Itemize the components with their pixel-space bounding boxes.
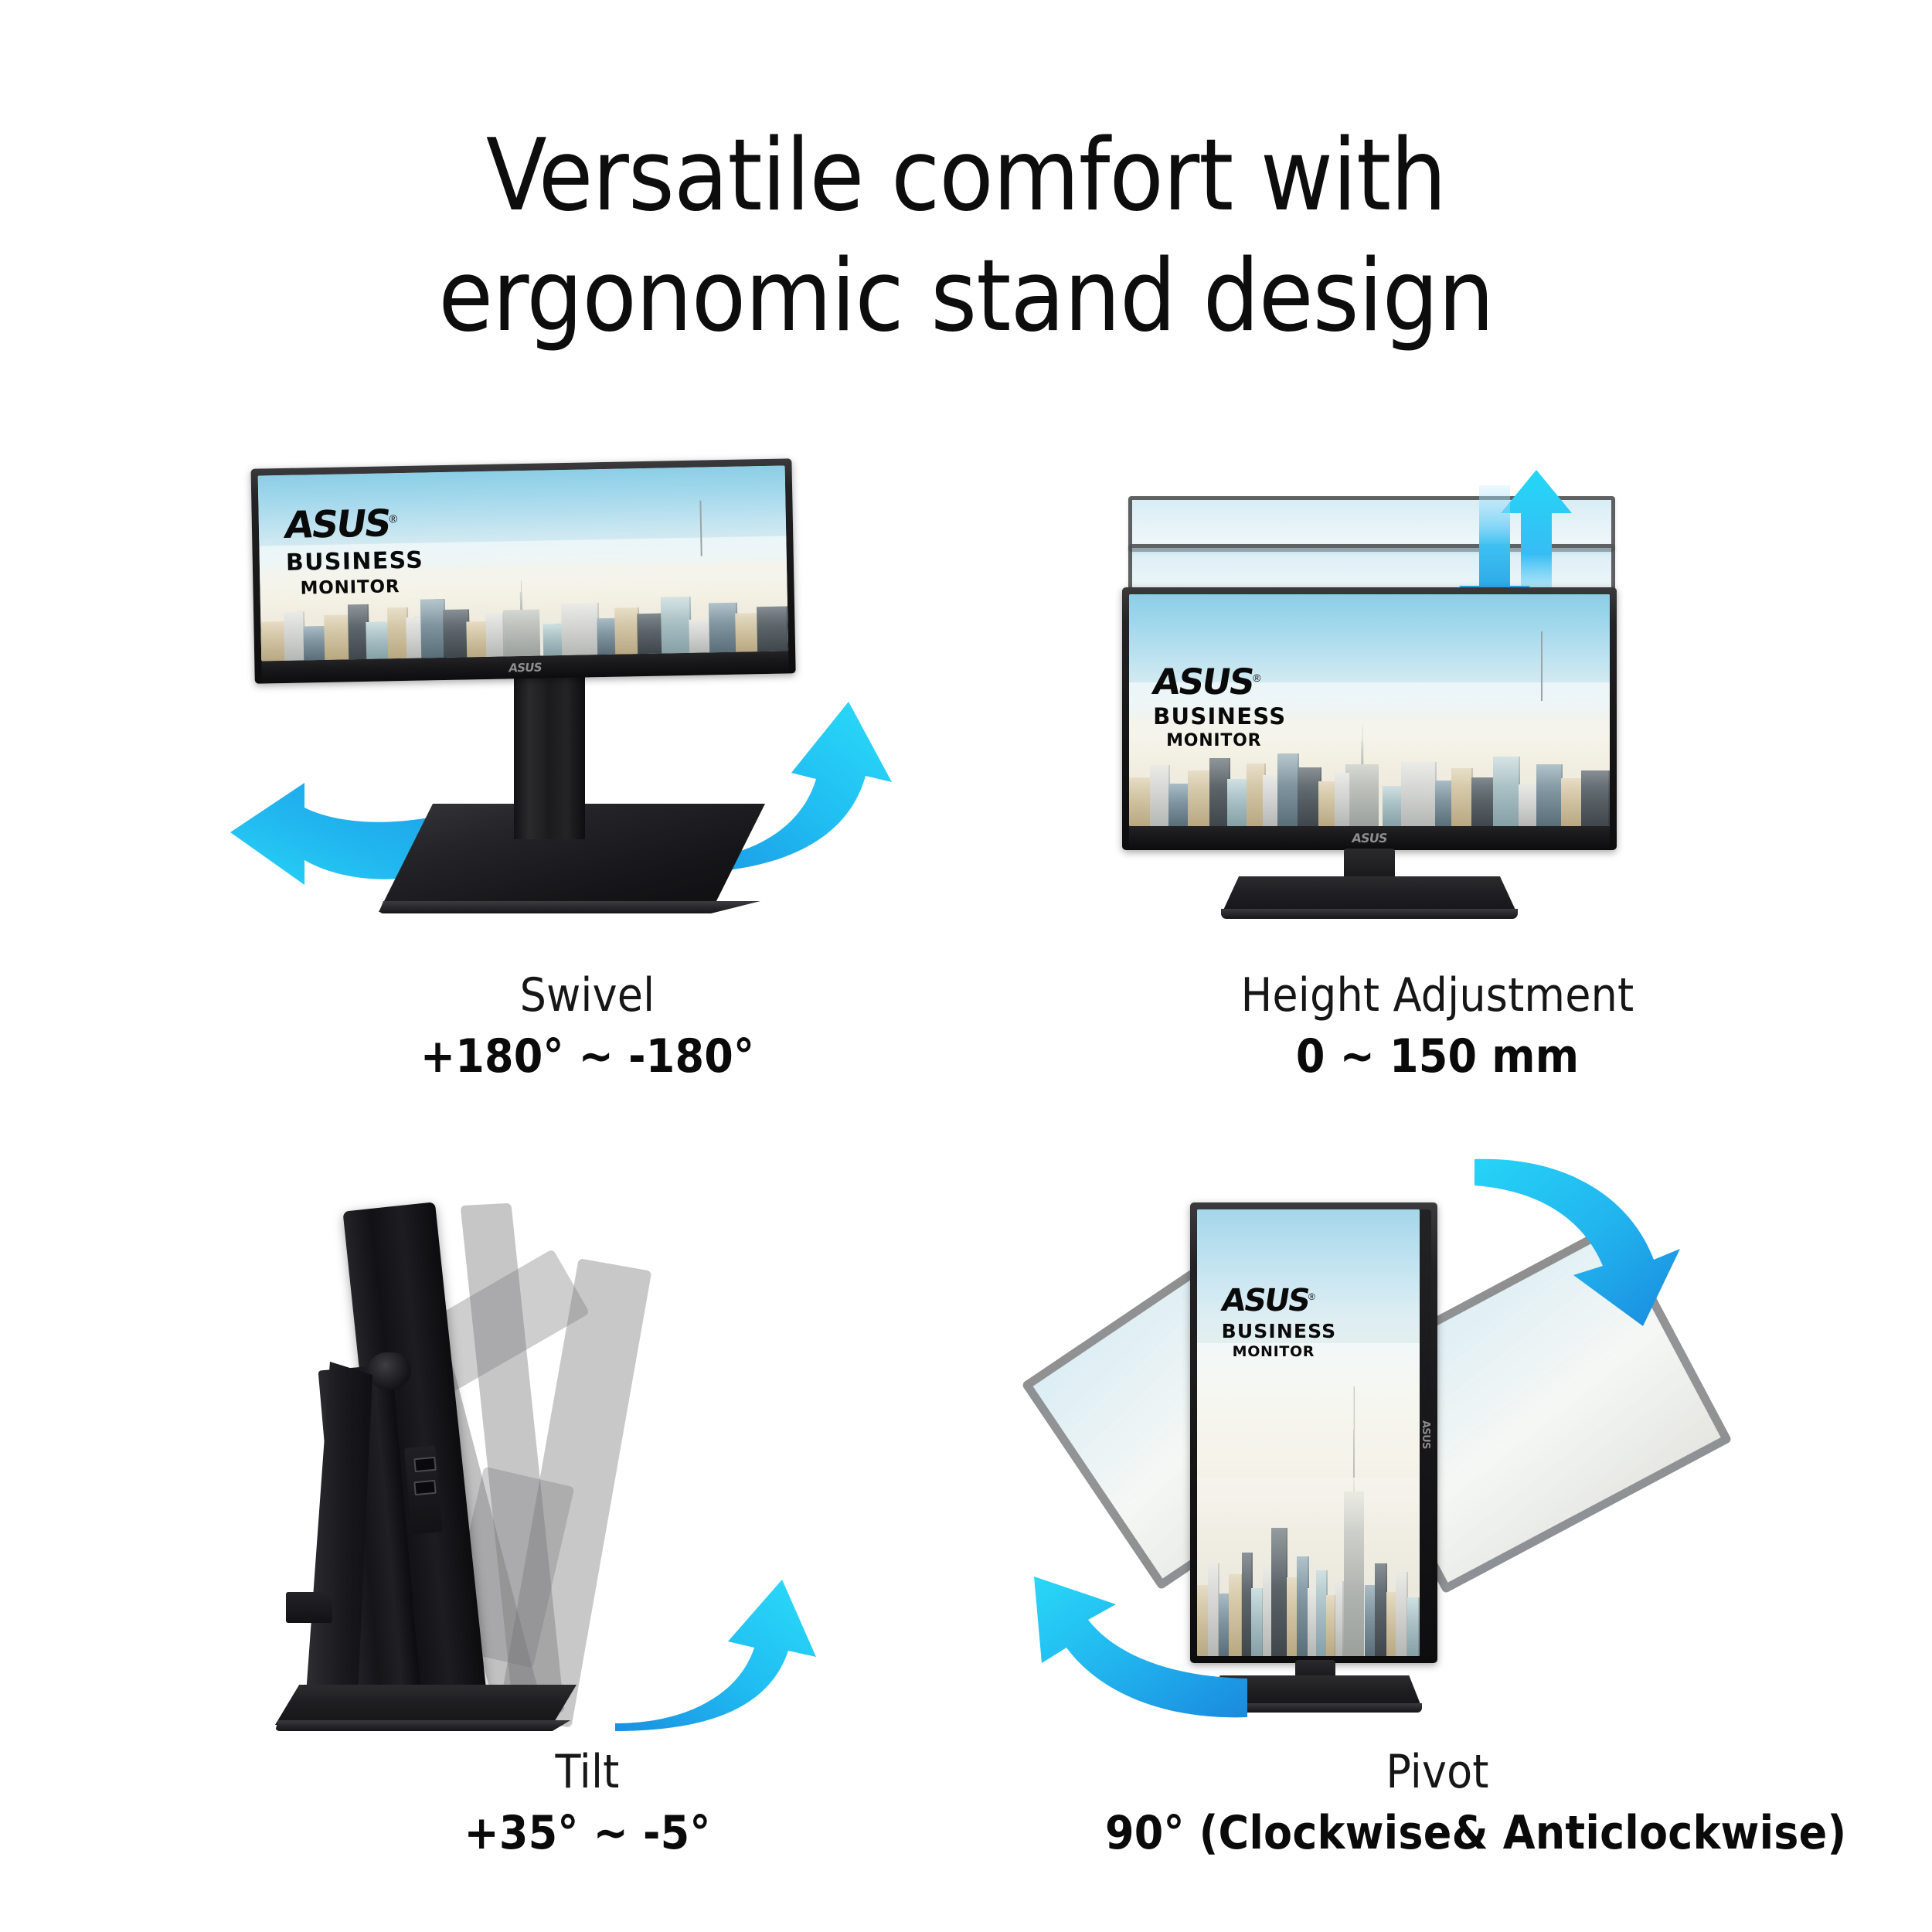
- tilt-illustration: [255, 1159, 920, 1777]
- tilt-stand-foot-rear: [286, 1592, 332, 1623]
- height-adjustment-monitor: ASUS® BUSINESS MONITOR ASUS: [1122, 587, 1617, 912]
- page-title-line-2: ergonomic stand design: [0, 236, 1932, 357]
- feature-cell-pivot: ASUS® BUSINESS MONITOR ASUS: [1105, 1159, 1770, 1932]
- screen-logo-brand: ASUS: [1150, 664, 1255, 699]
- height-monitor-bezel: ASUS® BUSINESS MONITOR ASUS: [1122, 587, 1617, 850]
- screen-logo-brand: ASUS: [283, 505, 392, 544]
- feature-cell-swivel: ASUS® BUSINESS MONITOR ASUS: [255, 464, 920, 1159]
- screen-asus-logo: ASUS® BUSINESS MONITOR: [1222, 1285, 1337, 1359]
- height-adjustment-title: Height Adjustment: [1105, 970, 1770, 1022]
- tilt-caption: Tilt +35° ~ -5°: [255, 1747, 920, 1859]
- pivot-clockwise-arrow: [1470, 1151, 1694, 1329]
- swivel-title: Swivel: [255, 970, 920, 1022]
- swivel-value: +180° ~ -180°: [255, 1031, 920, 1083]
- screen-antenna: [1541, 631, 1543, 701]
- height-adjustment-illustration: ASUS® BUSINESS MONITOR ASUS: [1105, 464, 1770, 943]
- screen-asus-logo: ASUS® BUSINESS MONITOR: [1153, 664, 1286, 750]
- screen-logo-monitor: MONITOR: [300, 577, 424, 597]
- swivel-caption: Swivel +180° ~ -180°: [255, 970, 920, 1083]
- pivot-caption: Pivot 90° (Clockwise& Anticlockwise): [1105, 1747, 1770, 1859]
- tilt-value: +35° ~ -5°: [255, 1808, 920, 1859]
- height-stand-base-edge: [1221, 909, 1518, 919]
- screen-logo-monitor: MONITOR: [1166, 733, 1286, 750]
- screen-logo-business: BUSINESS: [1153, 706, 1286, 728]
- pivot-title: Pivot: [1105, 1747, 1770, 1798]
- tilt-pivot-joint: [368, 1352, 411, 1389]
- screen-asus-logo: ASUS® BUSINESS MONITOR: [285, 504, 424, 597]
- swivel-stand-base-edge: [379, 901, 765, 913]
- height-adjustment-value: 0 ~ 150 mm: [1105, 1031, 1770, 1083]
- feature-cell-tilt: Tilt +35° ~ -5°: [255, 1159, 920, 1932]
- chin-asus-logo: ASUS: [508, 661, 543, 675]
- screen-logo-business: BUSINESS: [1222, 1321, 1337, 1341]
- swivel-monitor: ASUS® BUSINESS MONITOR ASUS: [250, 458, 795, 692]
- screen-logo-brand: ASUS: [1219, 1285, 1311, 1316]
- height-monitor-panel: ASUS® BUSINESS MONITOR: [1129, 594, 1610, 826]
- chin-asus-logo: ASUS: [1351, 831, 1388, 845]
- tilt-stand-base-edge: [275, 1720, 577, 1731]
- page-title-line-1: Versatile comfort with: [486, 118, 1446, 233]
- tilt-arrow: [611, 1577, 819, 1731]
- screen-logo-monitor: MONITOR: [1233, 1345, 1337, 1359]
- usb-port-upper-icon: [413, 1457, 436, 1472]
- screen-logo-registered: ®: [1253, 673, 1260, 684]
- chin-asus-logo: ASUS: [1420, 1411, 1431, 1458]
- pivot-anticlockwise-arrow: [1020, 1561, 1252, 1723]
- usb-port-lower-icon: [413, 1480, 436, 1495]
- feature-grid: ASUS® BUSINESS MONITOR ASUS: [0, 464, 1932, 1932]
- swivel-monitor-bezel: ASUS® BUSINESS MONITOR ASUS: [250, 458, 795, 683]
- page-title: Versatile comfort with ergonomic stand d…: [0, 116, 1932, 357]
- swivel-illustration: ASUS® BUSINESS MONITOR ASUS: [255, 464, 920, 943]
- screen-logo-business: BUSINESS: [286, 549, 424, 574]
- tilt-stand-base: [275, 1685, 577, 1725]
- swivel-monitor-panel: ASUS® BUSINESS MONITOR: [258, 466, 788, 662]
- tilt-title: Tilt: [255, 1747, 920, 1798]
- feature-cell-height-adjustment: ASUS® BUSINESS MONITOR ASUS: [1105, 464, 1770, 1159]
- height-monitor-chin: ASUS: [1129, 826, 1610, 848]
- pivot-illustration: ASUS® BUSINESS MONITOR ASUS: [1105, 1159, 1770, 1777]
- product-feature-page: Versatile comfort with ergonomic stand d…: [0, 0, 1932, 1932]
- pivot-value: 90° (Clockwise& Anticlockwise): [1105, 1808, 1770, 1859]
- height-adjustment-caption: Height Adjustment 0 ~ 150 mm: [1105, 970, 1770, 1083]
